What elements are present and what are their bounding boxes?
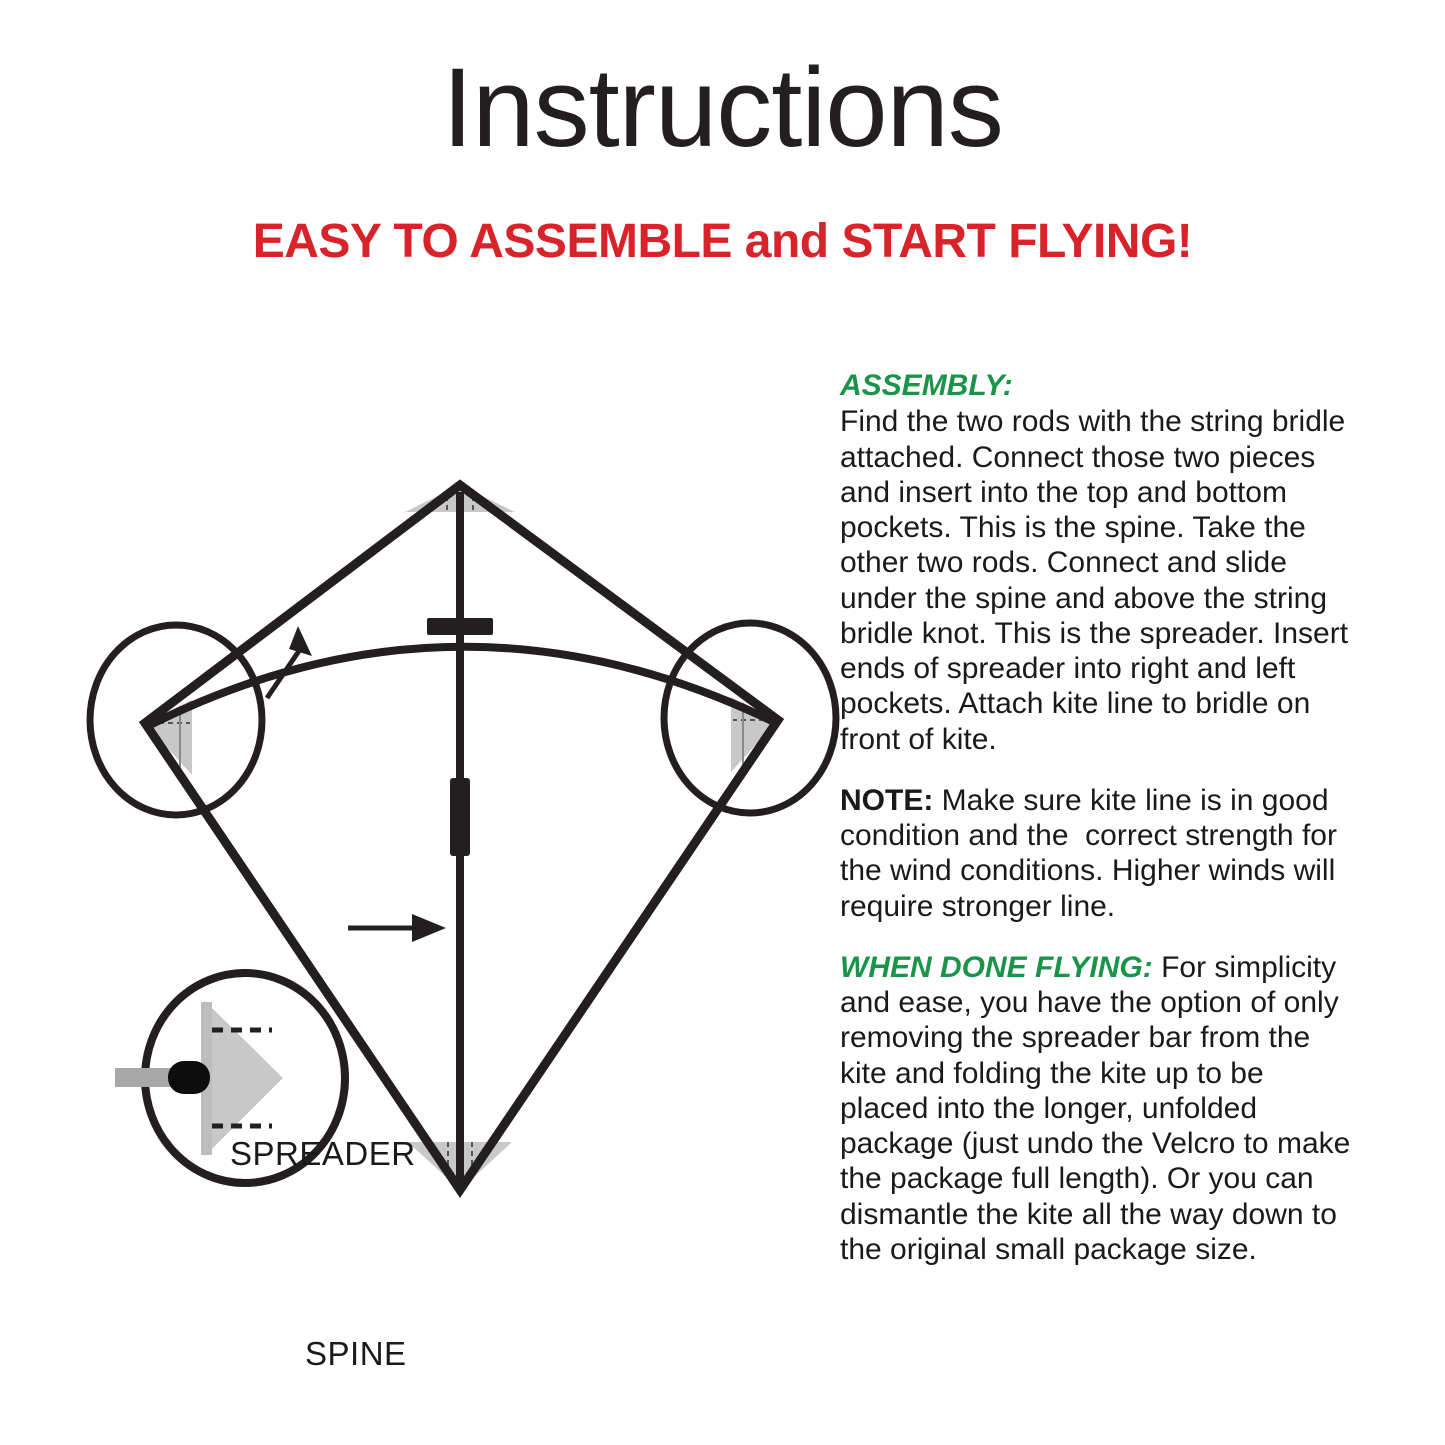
page-title: Instructions xyxy=(0,52,1445,164)
kite-diagram-svg xyxy=(60,430,850,1250)
spine-ferrule xyxy=(450,778,470,856)
kite-assembly-diagram: SPREADER SPINE xyxy=(60,430,850,1250)
note-heading: NOTE: xyxy=(840,784,933,817)
spreader-leader-arrow xyxy=(267,626,312,698)
detail-rod-shaft xyxy=(115,1068,173,1087)
spine-label: SPINE xyxy=(305,1335,407,1373)
detail-rod-tip xyxy=(168,1061,210,1094)
instructions-column: ASSEMBLY:Find the two rods with the stri… xyxy=(840,368,1352,1267)
page-subtitle: EASY TO ASSEMBLE and START FLYING! xyxy=(0,218,1445,266)
assembly-section: ASSEMBLY:Find the two rods with the stri… xyxy=(840,368,1352,757)
assembly-paragraph: ASSEMBLY:Find the two rods with the stri… xyxy=(840,368,1352,757)
note-paragraph: NOTE: Make sure kite line is in good con… xyxy=(840,783,1352,924)
when-done-flying-body: For simplicity and ease, you have the op… xyxy=(840,951,1350,1266)
assembly-body: Find the two rods with the string bridle… xyxy=(840,405,1348,755)
when-done-flying-heading: WHEN DONE FLYING: xyxy=(840,951,1153,984)
when-done-flying-paragraph: WHEN DONE FLYING: For simplicity and eas… xyxy=(840,950,1352,1267)
when-done-flying-section: WHEN DONE FLYING: For simplicity and eas… xyxy=(840,950,1352,1267)
assembly-heading: ASSEMBLY: xyxy=(840,368,1352,403)
spreader-ferrule xyxy=(427,618,493,635)
spreader-label: SPREADER xyxy=(230,1135,416,1173)
spine-leader-arrow xyxy=(348,914,446,942)
note-section: NOTE: Make sure kite line is in good con… xyxy=(840,783,1352,924)
